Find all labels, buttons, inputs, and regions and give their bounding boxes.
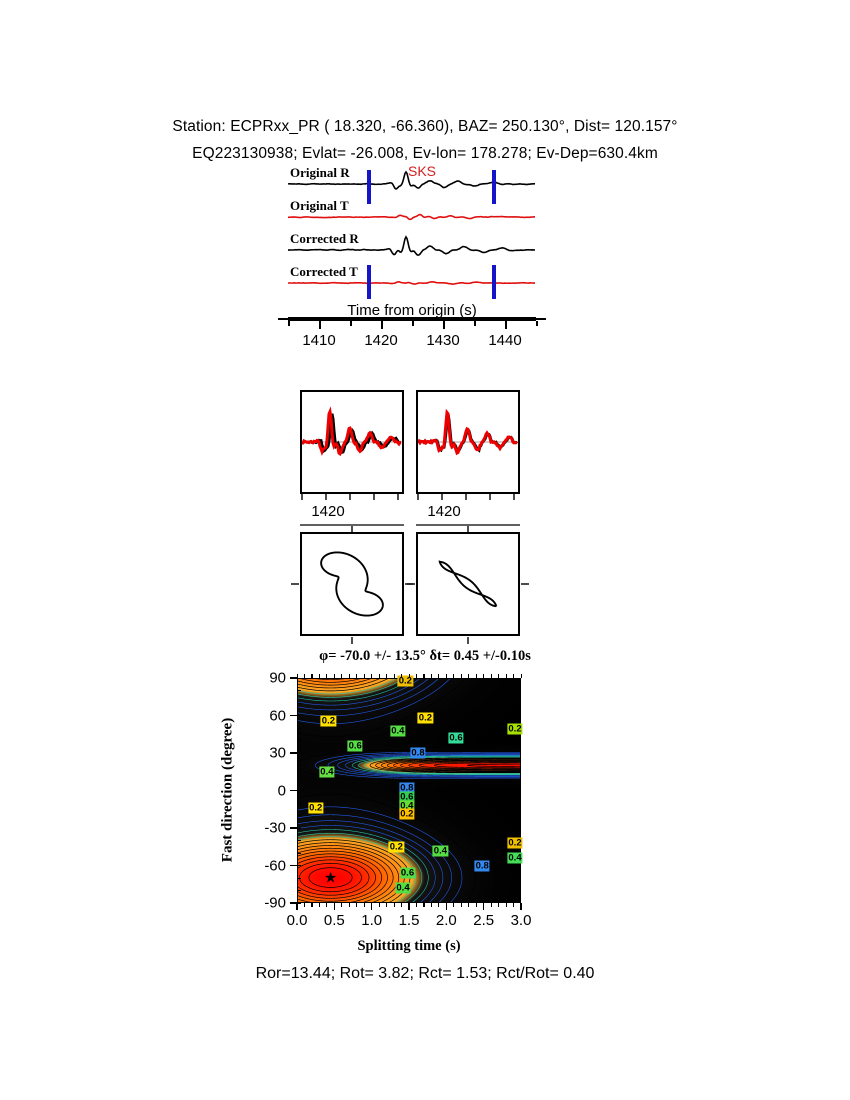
y-axis-tick [290,865,297,867]
y-axis-tick-label: -60 [264,857,286,874]
x-axis-minor-tick [341,903,342,907]
x-axis-minor-tick [476,674,477,678]
event-info-line: EQ223130938; Evlat= -26.008, Ev-lon= 178… [0,145,850,163]
x-axis-minor-tick [498,674,499,678]
time-axis-minor-tick [412,321,414,326]
trace-corrected-t: Corrected T [288,267,536,299]
y-axis-minor-tick [297,853,301,854]
y-axis-tick-label: -30 [264,820,286,837]
x-axis-minor-tick [461,674,462,678]
y-axis-minor-tick [297,753,301,754]
time-axis-minor-tick [443,321,445,326]
x-axis-minor-tick [304,674,305,678]
time-axis-minor-tick [350,321,352,326]
x-axis-minor-tick [461,903,462,907]
window-marker-end [492,170,496,204]
y-axis-tick-label: 90 [269,670,286,687]
x-axis-minor-tick [513,903,514,907]
x-axis-tick-label: 2.5 [473,912,494,929]
x-axis-minor-tick [468,903,469,907]
y-axis-minor-tick [297,840,301,841]
y-axis-minor-tick [297,790,301,791]
x-axis-minor-tick [364,674,365,678]
time-axis-tick-label: 1410 [302,332,335,349]
x-axis-minor-tick [521,903,522,907]
compare-panel-ticks [296,494,408,502]
x-axis-minor-tick [521,674,522,678]
window-marker-start [367,265,371,299]
x-axis-minor-tick [356,674,357,678]
time-axis: Time from origin (s) 1410142014301440 [288,305,536,355]
trace-label: Original R [290,165,350,181]
compare-panel-xlabel: 1420 [427,503,460,520]
x-axis-minor-tick [334,674,335,678]
x-axis-minor-tick [446,903,447,907]
y-axis-minor-tick [297,728,301,729]
x-axis-minor-tick [491,903,492,907]
x-axis-minor-tick [438,674,439,678]
y-axis-minor-tick [297,815,301,816]
time-axis-tick-label: 1430 [426,332,459,349]
y-axis-tick [290,715,297,717]
y-axis-minor-tick [297,678,301,679]
y-axis-minor-tick [297,828,301,829]
x-axis-minor-tick [401,903,402,907]
x-axis-minor-tick [319,903,320,907]
x-axis-tick-label: 1.5 [399,912,420,929]
time-axis-minor-tick [505,321,507,326]
error-surface-plot: 0.20.20.20.40.60.20.60.80.40.80.60.40.20… [297,678,521,903]
y-axis-tick [290,752,297,754]
trace-label: Original T [290,198,349,214]
x-axis-minor-tick [431,903,432,907]
x-axis-minor-tick [453,674,454,678]
x-axis-minor-tick [423,903,424,907]
time-axis-minor-tick [474,321,476,326]
x-axis-minor-tick [379,903,380,907]
time-axis-tick-label: 1440 [488,332,521,349]
overlay-traces [302,392,402,492]
x-axis-minor-tick [334,903,335,907]
x-axis-minor-tick [364,903,365,907]
y-axis-minor-tick [297,740,301,741]
x-axis-minor-tick [349,903,350,907]
y-axis-tick-label: 60 [269,707,286,724]
trace-corrected-r: Corrected R [288,234,536,266]
x-axis-minor-tick [446,674,447,678]
x-axis-minor-tick [341,674,342,678]
y-axis-minor-tick [297,865,301,866]
x-axis-minor-tick [423,674,424,678]
x-axis-minor-tick [438,903,439,907]
contour-xlabel: Splitting time (s) [297,938,521,955]
time-axis-minor-tick [381,321,383,326]
x-axis-minor-tick [326,674,327,678]
window-marker-end [492,265,496,299]
compare-panel-xlabel: 1420 [311,503,344,520]
y-axis-tick-label: -90 [264,895,286,912]
y-axis-tick-label: 30 [269,745,286,762]
x-axis-tick-label: 3.0 [511,912,532,929]
hodogram-crosshair-ticks [288,524,536,646]
figure-page: Station: ECPRxx_PR ( 18.320, -66.360), B… [0,0,850,1100]
trace-label: Corrected T [290,264,358,280]
fast-slow-panel-uncorrected [300,390,404,494]
x-axis-minor-tick [394,903,395,907]
waveform-panel: Original R Original T Corrected R Correc… [288,168,536,298]
y-axis-minor-tick [297,890,301,891]
x-axis-minor-tick [506,903,507,907]
x-axis-tick-label: 1.0 [361,912,382,929]
y-axis-tick-label: 0 [278,782,286,799]
time-axis-title: Time from origin (s) [288,302,536,319]
y-axis-minor-tick [297,878,301,879]
x-axis-minor-tick [498,903,499,907]
sks-phase-label: SKS [408,163,436,179]
contour-ylabel: Fast direction (degree) [220,718,237,862]
y-axis-tick [290,790,297,792]
trace-original-t: Original T [288,201,536,233]
contour-plot-title: φ= -70.0 +/- 13.5° δt= 0.45 +/-0.10s [0,648,850,665]
y-axis-minor-tick [297,703,301,704]
x-axis-minor-tick [483,674,484,678]
x-axis-minor-tick [506,674,507,678]
x-axis-minor-tick [483,903,484,907]
x-axis-minor-tick [379,674,380,678]
time-axis-minor-tick [536,321,538,326]
x-axis-minor-tick [304,903,305,907]
x-axis-minor-tick [401,674,402,678]
time-axis-minor-tick [319,321,321,326]
x-axis-minor-tick [468,674,469,678]
y-axis-minor-tick [297,765,301,766]
x-axis-minor-tick [416,903,417,907]
fast-slow-panel-corrected [416,390,520,494]
x-axis-minor-tick [371,674,372,678]
y-axis-minor-tick [297,690,301,691]
y-axis-minor-tick [297,715,301,716]
x-axis-minor-tick [409,903,410,907]
compare-panel-ticks [412,494,524,502]
time-axis-minor-tick [288,321,290,326]
x-axis-tick-label: 2.0 [436,912,457,929]
x-axis-minor-tick [513,674,514,678]
error-surface-canvas [297,678,521,903]
y-axis-minor-tick [297,803,301,804]
y-axis-minor-tick [297,778,301,779]
x-axis-minor-tick [416,674,417,678]
x-axis-tick-label: 0.0 [287,912,308,929]
y-axis-tick [290,827,297,829]
x-axis-minor-tick [349,674,350,678]
x-axis-minor-tick [356,903,357,907]
x-axis-minor-tick [297,903,298,907]
x-axis-minor-tick [371,903,372,907]
trace-label: Corrected R [290,231,359,247]
x-axis-minor-tick [311,903,312,907]
x-axis-minor-tick [297,674,298,678]
x-axis-minor-tick [311,674,312,678]
station-info-line: Station: ECPRxx_PR ( 18.320, -66.360), B… [0,118,850,136]
x-axis-minor-tick [319,674,320,678]
x-axis-minor-tick [491,674,492,678]
time-axis-tick-label: 1420 [364,332,397,349]
x-axis-minor-tick [386,903,387,907]
x-axis-minor-tick [394,674,395,678]
x-axis-minor-tick [326,903,327,907]
window-marker-start [367,170,371,204]
x-axis-minor-tick [386,674,387,678]
x-axis-minor-tick [409,674,410,678]
x-axis-minor-tick [431,674,432,678]
overlay-traces [418,392,518,492]
quality-stats-line: Ror=13.44; Rot= 3.82; Rct= 1.53; Rct/Rot… [0,965,850,983]
x-axis-minor-tick [476,903,477,907]
x-axis-minor-tick [453,903,454,907]
x-axis-tick-label: 0.5 [324,912,345,929]
